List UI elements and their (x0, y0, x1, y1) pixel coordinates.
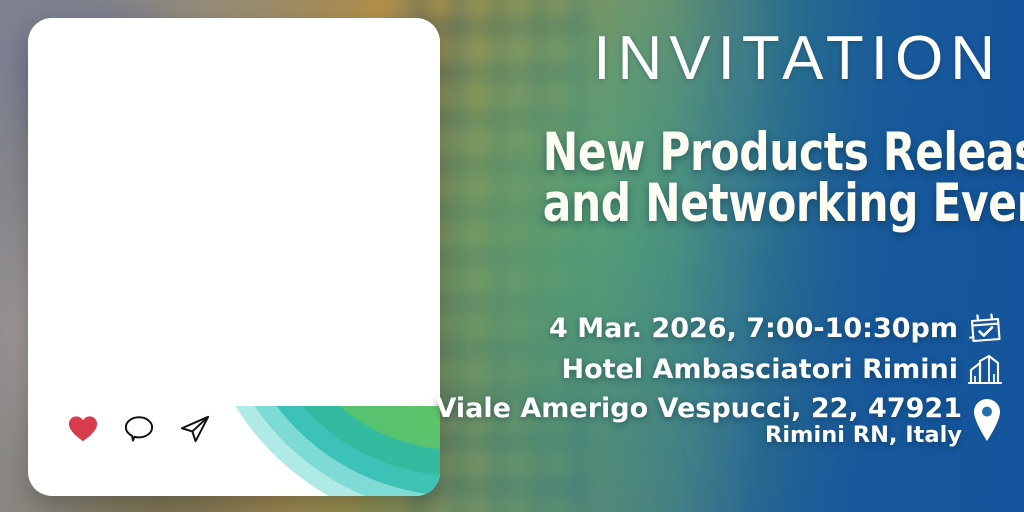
event-details: 4 Mar. 2026, 7:00-10:30pm Hotel Ambascia… (428, 312, 1002, 454)
poweroad-r-mark-icon (78, 30, 118, 66)
event-address: Viale Amerigo Vespucci, 22, 47921 Rimini… (428, 394, 1002, 447)
photo-flag (75, 266, 93, 277)
25th-anniversary-icon (344, 33, 390, 63)
address-line-1: Viale Amerigo Vespucci, 22, 47921 (436, 393, 963, 424)
poweroad-logo: POWEROAD (78, 30, 389, 66)
event-datetime: 4 Mar. 2026, 7:00-10:30pm (428, 312, 1002, 346)
poweroad-wordmark: POWEROAD (127, 35, 308, 62)
calendar-check-icon (968, 312, 1002, 346)
hotel-photo-image (42, 80, 426, 402)
photo-entrance-canopy (242, 273, 311, 325)
photo-planter (280, 367, 330, 396)
headline-line-2: and Networking Events (543, 179, 1002, 230)
location-pin-icon (972, 398, 1002, 444)
social-actions (68, 414, 210, 444)
page-title: New Products Release and Networking Even… (543, 128, 1002, 230)
photo-planter (157, 367, 207, 396)
share-icon[interactable] (180, 414, 210, 444)
photo-ha-sign (272, 235, 322, 277)
event-datetime-text: 4 Mar. 2026, 7:00-10:30pm (549, 314, 958, 343)
photo-flag (61, 286, 79, 297)
address-line-2: Rimini RN, Italy (436, 423, 963, 447)
photo-lamp (257, 357, 267, 367)
photo-flag (95, 269, 113, 280)
hotel-photo (42, 80, 426, 402)
invitation-content: INVITATION New Products Release and Netw… (450, 0, 1024, 512)
invitation-banner: POWEROAD (0, 0, 1024, 512)
card-header: POWEROAD (28, 18, 440, 78)
logo-divider (326, 35, 327, 61)
photo-flagpoles (50, 260, 119, 312)
event-venue: Hotel Ambasciatori Rimini (428, 353, 1002, 387)
like-icon[interactable] (68, 414, 98, 444)
comment-icon[interactable] (124, 414, 154, 444)
eyebrow-invitation: INVITATION (593, 28, 1002, 90)
building-icon (968, 353, 1002, 387)
instagram-post-card: POWEROAD (28, 18, 440, 496)
event-address-text: Viale Amerigo Vespucci, 22, 47921 Rimini… (436, 394, 963, 447)
event-venue-text: Hotel Ambasciatori Rimini (562, 355, 958, 384)
headline-line-1: New Products Release (543, 128, 1002, 179)
photo-flag (53, 272, 71, 283)
